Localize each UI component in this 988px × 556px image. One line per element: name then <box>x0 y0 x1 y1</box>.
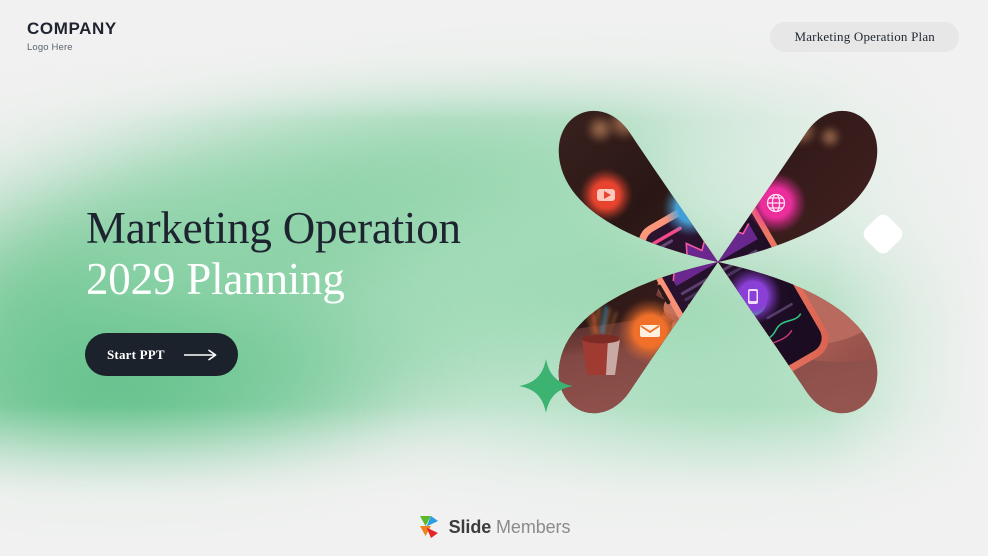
arrow-right-icon <box>184 349 218 361</box>
x-butterfly-artwork: S <box>558 103 878 421</box>
page-title: Marketing Operation 2029 Planning <box>86 206 461 302</box>
neon-orb-magenta-chart <box>706 341 760 395</box>
sparkle-decor-icon <box>518 358 574 414</box>
svg-text:S: S <box>686 201 696 218</box>
company-logo-subtitle: Logo Here <box>27 42 117 53</box>
neon-orb-pink-globe <box>746 173 806 233</box>
company-logo: COMPANY Logo Here <box>27 20 117 53</box>
start-ppt-label: Start PPT <box>107 347 165 363</box>
neon-orb-orange-mail <box>618 299 682 363</box>
slide-members-light: Members <box>491 517 570 537</box>
masked-photo: S <box>548 93 908 433</box>
slide-members-footer: Slide Members <box>0 514 988 540</box>
slide-members-cube-icon <box>418 514 442 540</box>
title-line-2: 2029 Planning <box>86 257 461 302</box>
neon-orb-purple-mobile <box>725 268 781 324</box>
slide-members-wordmark: Slide Members <box>449 518 571 536</box>
neon-orb-violet <box>712 153 756 197</box>
title-line-1: Marketing Operation <box>86 206 461 251</box>
hero-artwork: S <box>558 103 878 421</box>
company-name: COMPANY <box>27 20 117 39</box>
neon-orb-red <box>580 169 632 221</box>
plan-badge-label: Marketing Operation Plan <box>794 29 935 45</box>
neon-orb-blue: S <box>663 180 719 236</box>
slide-members-bold: Slide <box>449 517 492 537</box>
plan-badge[interactable]: Marketing Operation Plan <box>770 22 959 52</box>
presentation-slide: S <box>0 0 988 556</box>
start-ppt-button[interactable]: Start PPT <box>85 333 238 376</box>
